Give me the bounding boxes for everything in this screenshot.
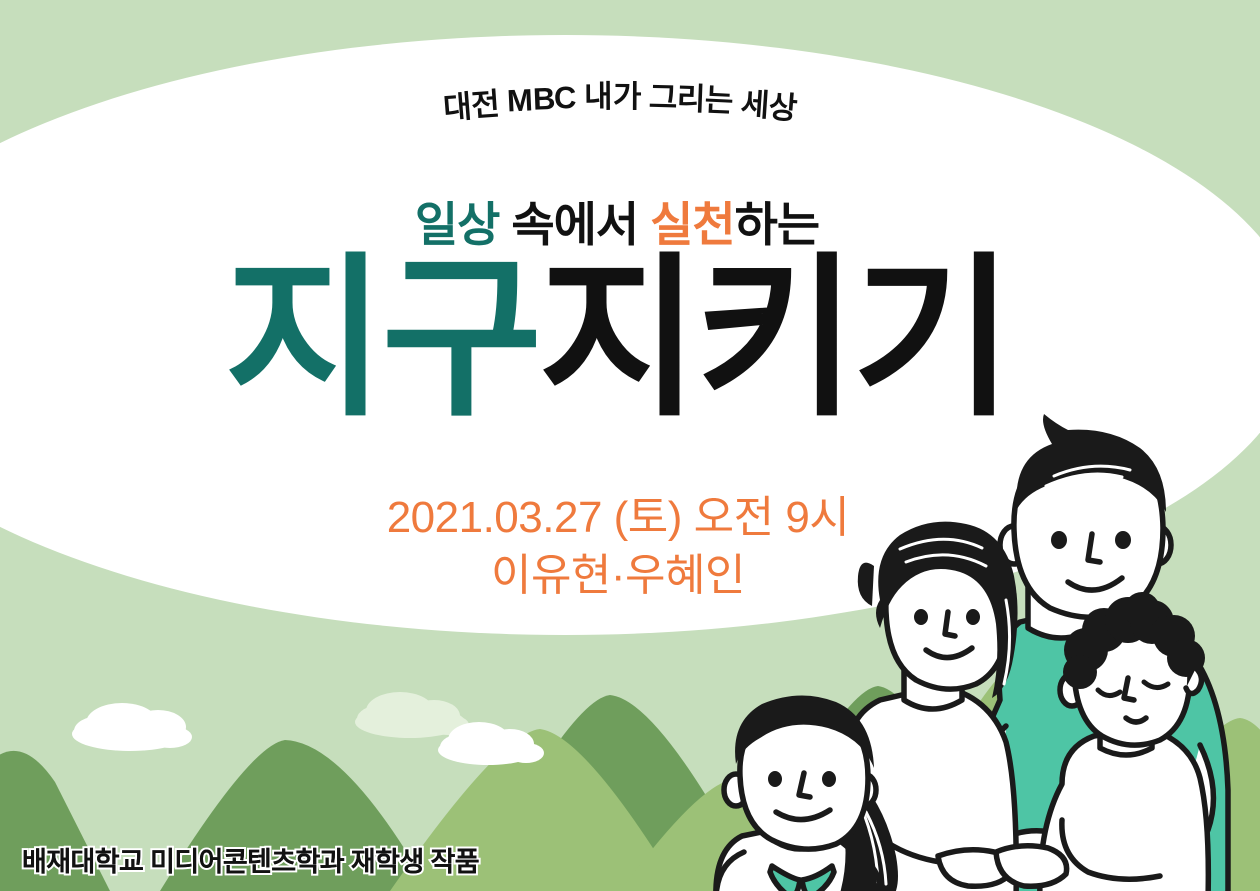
poster-canvas: 대전 MBC 내가 그리는 세상 일상 속에서 실천하는 지구지키기 2021.…	[0, 0, 1260, 891]
kicker-text: 대전 MBC 내가 그리는 세상	[0, 74, 1250, 119]
joined-hands	[996, 846, 1067, 887]
family-illustration	[0, 0, 1260, 891]
schedule-authors: 이유현·우혜인	[0, 547, 1248, 605]
main-title-part-black: 지키기	[539, 242, 1010, 437]
footer-credit-fill: 배재대학교 미디어콘텐츠학과 재학생 작품	[22, 840, 479, 879]
main-title: 지구지키기	[0, 252, 1247, 427]
schedule-block: 2021.03.27 (토) 오전 9시 이유현·우혜인	[0, 489, 1248, 605]
schedule-datetime: 2021.03.27 (토) 오전 9시	[0, 489, 1248, 547]
main-title-part-teal: 지구	[225, 242, 539, 437]
